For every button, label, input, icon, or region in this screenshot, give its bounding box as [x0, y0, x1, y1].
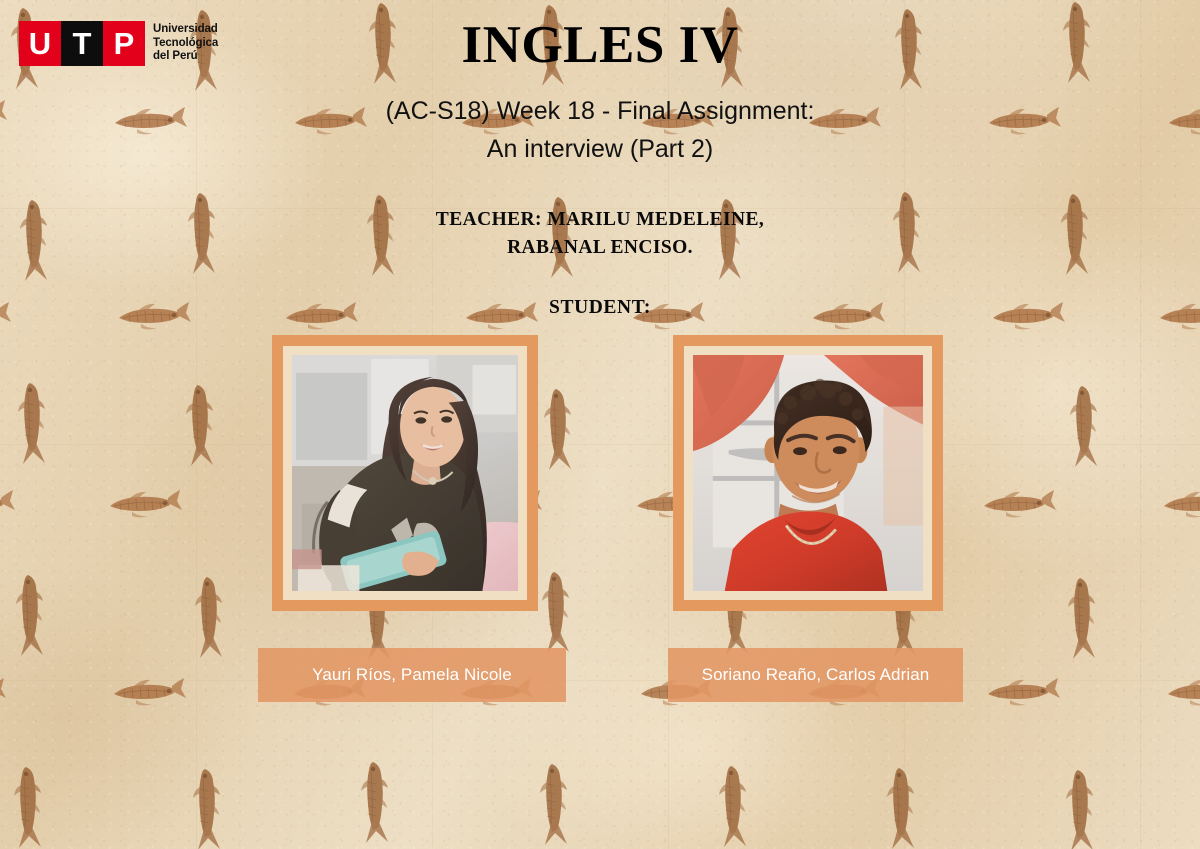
fish-fossil-icon — [982, 676, 1060, 708]
teacher-line-1: TEACHER: MARILU MEDELEINE, — [0, 206, 1200, 234]
teacher-block: TEACHER: MARILU MEDELEINE, RABANAL ENCIS… — [0, 206, 1200, 261]
fish-fossil-icon — [12, 765, 46, 849]
fish-fossil-icon — [0, 676, 6, 708]
photo-frame-mat-left — [283, 346, 527, 600]
student-photo-male — [693, 355, 923, 591]
wordmark-line-3: del Perú — [153, 50, 218, 64]
student-name-banner-left: Yauri Ríos, Pamela Nicole — [258, 648, 566, 702]
logo-letter-u: U — [19, 21, 61, 66]
fish-fossil-icon — [191, 767, 225, 849]
fish-fossil-icon — [542, 387, 576, 471]
logo-letter-p: P — [103, 21, 145, 66]
student-name-banner-right: Soriano Reaño, Carlos Adrian — [668, 648, 963, 702]
fish-fossil-icon — [717, 764, 751, 848]
fish-fossil-icon — [0, 488, 15, 520]
fish-fossil-icon — [1068, 384, 1102, 468]
fish-fossil-icon — [104, 488, 182, 520]
student-label: STUDENT: — [0, 297, 1200, 319]
presentation-slide: U T P Universidad Tecnológica del Perú I… — [0, 0, 1200, 849]
fish-fossil-icon — [108, 676, 186, 708]
teacher-line-2: RABANAL ENCISO. — [0, 234, 1200, 262]
fish-fossil-icon — [1064, 768, 1098, 849]
fish-fossil-icon — [885, 766, 919, 849]
fish-fossil-icon — [538, 762, 572, 846]
fish-fossil-icon — [16, 381, 50, 465]
fish-fossil-icon — [14, 573, 48, 657]
fish-fossil-icon — [193, 575, 227, 659]
fish-fossil-icon — [1162, 676, 1200, 708]
utp-logo: U T P Universidad Tecnológica del Perú — [19, 21, 218, 66]
wordmark-line-1: Universidad — [153, 23, 218, 37]
student-name-right: Soriano Reaño, Carlos Adrian — [702, 665, 930, 685]
student-photo-frame-right — [673, 335, 943, 611]
fish-fossil-icon — [1158, 488, 1200, 520]
student-photo-female — [292, 355, 518, 591]
subtitle-line-1: (AC-S18) Week 18 - Final Assignment: — [0, 92, 1200, 130]
page-subtitle: (AC-S18) Week 18 - Final Assignment: An … — [0, 92, 1200, 168]
photo-frame-mat-right — [684, 346, 932, 600]
student-photo-frame-left — [272, 335, 538, 611]
utp-wordmark: Universidad Tecnológica del Perú — [153, 23, 218, 64]
utp-logo-mark: U T P — [19, 21, 145, 66]
fish-fossil-icon — [1066, 576, 1100, 660]
fish-fossil-icon — [359, 760, 393, 844]
subtitle-line-2: An interview (Part 2) — [0, 130, 1200, 168]
student-name-left: Yauri Ríos, Pamela Nicole — [312, 665, 512, 685]
wordmark-line-2: Tecnológica — [153, 37, 218, 51]
fish-fossil-icon — [978, 488, 1056, 520]
logo-letter-t: T — [61, 21, 103, 66]
fish-fossil-icon — [184, 383, 218, 467]
fish-fossil-icon — [540, 570, 574, 654]
